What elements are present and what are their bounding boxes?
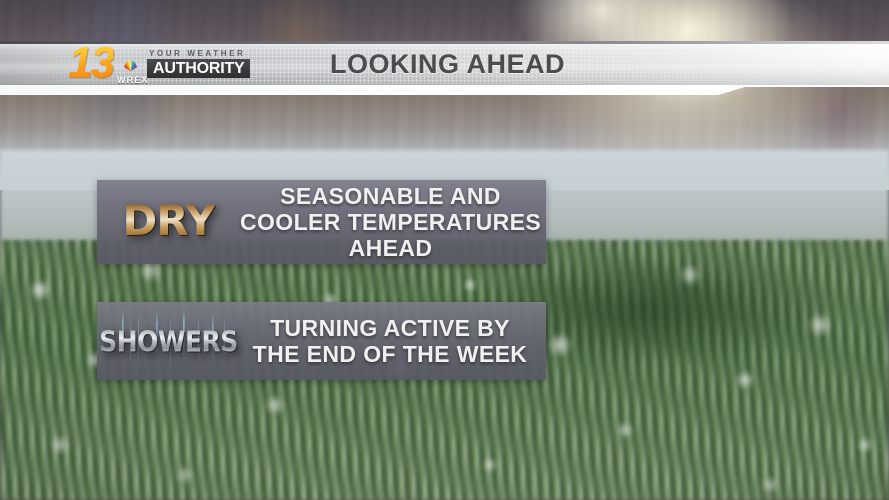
showers-line-2: THE END OF THE WEEK (240, 341, 540, 367)
nbc-peacock-icon (122, 58, 139, 75)
logo-authority-box: AUTHORITY (147, 59, 250, 78)
showers-wordart-wrap: SHOWERS (104, 313, 234, 369)
forecast-panel-showers: SHOWERS TURNING ACTIVE BY THE END OF THE… (97, 302, 546, 380)
logo-tagline-top: YOUR WEATHER (149, 49, 245, 58)
dry-wordart-icon: DRY (122, 200, 214, 242)
page-title: LOOKING AHEAD (330, 47, 565, 82)
dry-line-2: COOLER TEMPERATURES (240, 209, 541, 235)
dry-line-3: AHEAD (240, 235, 541, 261)
weather-graphic: 13 WREX YOUR WEATHER AUTHORITY LOOKING A… (0, 0, 889, 500)
forecast-panel-dry: DRY SEASONABLE AND COOLER TEMPERATURES A… (97, 180, 546, 264)
call-sign: WREX (117, 75, 148, 85)
showers-panel-text: TURNING ACTIVE BY THE END OF THE WEEK (240, 315, 546, 367)
dry-panel-text: SEASONABLE AND COOLER TEMPERATURES AHEAD (240, 183, 547, 261)
showers-icon-area: SHOWERS (97, 313, 240, 369)
station-logo: 13 WREX YOUR WEATHER AUTHORITY (62, 44, 252, 86)
banner-lower-strip (0, 85, 889, 95)
channel-number: 13 (68, 41, 113, 85)
top-banner: 13 WREX YOUR WEATHER AUTHORITY LOOKING A… (0, 41, 889, 95)
dry-icon-area: DRY (97, 201, 240, 243)
dry-line-1: SEASONABLE AND (240, 183, 541, 209)
logo-tagline-bottom: AUTHORITY (153, 61, 245, 77)
showers-wordart-icon: SHOWERS (99, 327, 238, 356)
showers-line-1: TURNING ACTIVE BY (240, 315, 540, 341)
